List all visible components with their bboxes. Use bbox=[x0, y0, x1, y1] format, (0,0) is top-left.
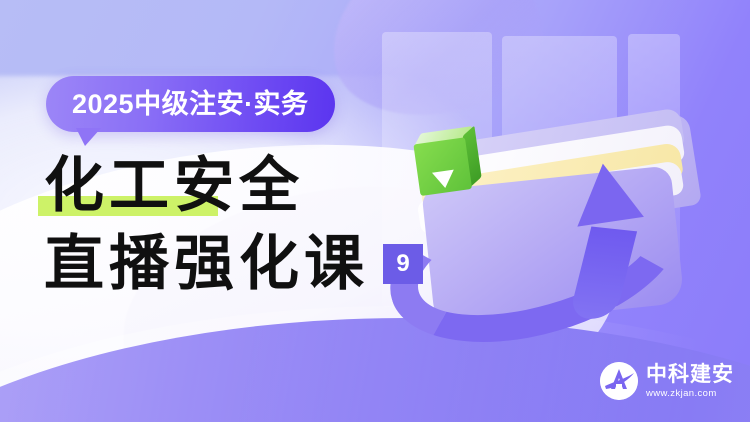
brand-url: www.zkjan.com bbox=[646, 389, 734, 399]
course-category-badge: 2025中级注安·实务 bbox=[46, 76, 335, 132]
brand-name: 中科建安 bbox=[646, 364, 734, 385]
brand-logo: 中科建安 www.zkjan.com bbox=[600, 362, 734, 400]
badge-tail-icon bbox=[76, 128, 101, 146]
course-category-label: 2025中级注安·实务 bbox=[72, 91, 309, 118]
brand-logo-text: 中科建安 www.zkjan.com bbox=[646, 364, 734, 399]
title-block: 化工安全 直播强化课 9 bbox=[44, 152, 423, 299]
episode-number-badge: 9 bbox=[383, 244, 423, 284]
zkjan-circle-logo-icon bbox=[600, 362, 638, 400]
title-line-2-row: 直播强化课 9 bbox=[44, 230, 423, 300]
title-line-2: 直播强化课 bbox=[44, 230, 369, 300]
title-line-1: 化工安全 bbox=[44, 153, 304, 219]
play-triangle-icon bbox=[432, 170, 456, 190]
course-banner: 2025中级注安·实务 化工安全 直播强化课 9 中科建安 www.zkjan.… bbox=[0, 0, 750, 422]
title-line-1-row: 化工安全 bbox=[44, 152, 304, 222]
